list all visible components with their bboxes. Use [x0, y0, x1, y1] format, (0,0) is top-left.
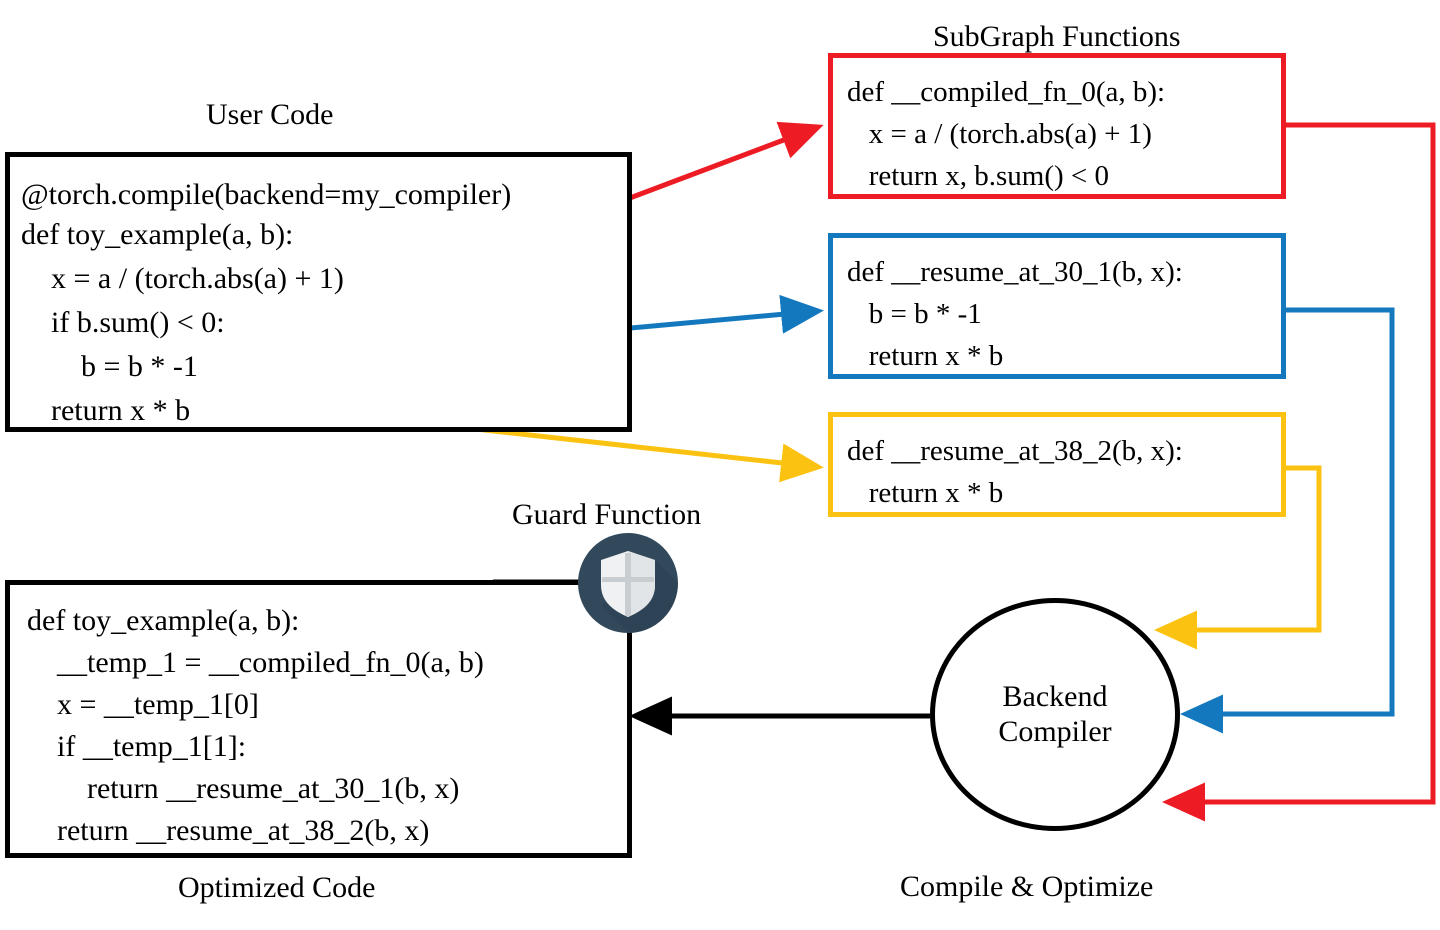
diagram-canvas: User Code SubGraph Functions Guard Funct…	[0, 0, 1440, 930]
user-code-line-4: if b.sum() < 0:	[21, 308, 225, 338]
compiled-fn-0-line-1: def __compiled_fn_0(a, b):	[847, 78, 1165, 107]
subgraph-fn-compiled-fn-0-box: def __compiled_fn_0(a, b): x = a / (torc…	[828, 53, 1286, 199]
backend-compiler-node: Backend Compiler	[930, 598, 1180, 831]
shield-icon[interactable]	[578, 533, 678, 633]
optimized-code-line-6: return __resume_at_38_2(b, x)	[27, 816, 429, 846]
guard-function-title: Guard Function	[512, 500, 701, 530]
user-code-box: @torch.compile(backend=my_compiler) def …	[5, 152, 632, 432]
optimized-code-title: Optimized Code	[178, 873, 375, 903]
optimized-code-line-3: x = __temp_1[0]	[27, 690, 259, 720]
optimized-code-line-4: if __temp_1[1]:	[27, 732, 246, 762]
guard-function-icon-wrap[interactable]	[578, 533, 678, 633]
optimized-code-line-1: def toy_example(a, b):	[27, 606, 299, 636]
subgraph-fn-resume-at-30-1-box: def __resume_at_30_1(b, x): b = b * -1 r…	[828, 233, 1286, 379]
compile-optimize-title: Compile & Optimize	[900, 872, 1153, 902]
backend-compiler-label-1: Backend	[1003, 680, 1108, 715]
optimized-code-box: def toy_example(a, b): __temp_1 = __comp…	[5, 580, 632, 858]
resume-30-1-line-3: return x * b	[847, 342, 1003, 371]
subgraph-fn-resume-at-38-2-box: def __resume_at_38_2(b, x): return x * b	[828, 412, 1286, 517]
user-code-line-3: x = a / (torch.abs(a) + 1)	[21, 264, 344, 294]
optimized-code-line-2: __temp_1 = __compiled_fn_0(a, b)	[27, 648, 484, 678]
user-code-line-5: b = b * -1	[21, 352, 198, 382]
user-code-line-6: return x * b	[21, 396, 190, 426]
user-code-line-1: @torch.compile(backend=my_compiler)	[21, 180, 511, 210]
user-code-title: User Code	[206, 100, 333, 130]
resume-30-1-line-1: def __resume_at_30_1(b, x):	[847, 258, 1183, 287]
compiled-fn-0-line-2: x = a / (torch.abs(a) + 1)	[847, 120, 1152, 149]
optimized-code-line-5: return __resume_at_30_1(b, x)	[27, 774, 459, 804]
user-code-line-2: def toy_example(a, b):	[21, 220, 293, 250]
resume-38-2-line-1: def __resume_at_38_2(b, x):	[847, 437, 1183, 466]
compiled-fn-0-line-3: return x, b.sum() < 0	[847, 162, 1109, 191]
resume-30-1-line-2: b = b * -1	[847, 300, 982, 329]
resume-38-2-line-2: return x * b	[847, 479, 1003, 508]
backend-compiler-label-2: Compiler	[998, 715, 1111, 750]
subgraph-functions-title: SubGraph Functions	[933, 22, 1181, 52]
